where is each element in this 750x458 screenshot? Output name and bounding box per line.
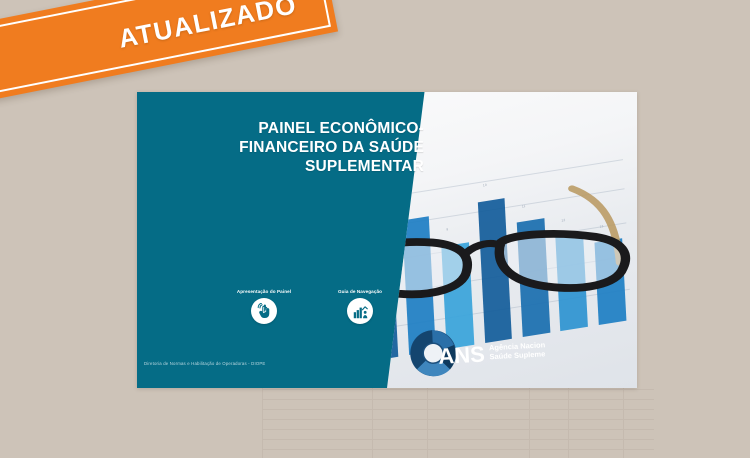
hand-tap-icon <box>256 303 273 320</box>
chart-tick-label: 13 <box>599 224 603 229</box>
ans-acronym: ANS <box>438 342 486 369</box>
chart-tick-label: 8 <box>407 202 409 206</box>
presentation-slide-card[interactable]: 12345678910111213 <box>137 92 637 388</box>
chart-tick-label: 5 <box>294 249 296 253</box>
action-icon-circle[interactable] <box>251 298 277 324</box>
screenshot-root: 12345678910111213 <box>0 0 750 458</box>
printed-bar-chart: 12345678910111213 <box>137 143 631 388</box>
background-watermark <box>262 386 654 458</box>
chart-tick-label: 4 <box>258 281 260 285</box>
status-badge: ATUALIZADO <box>0 0 338 103</box>
chart-tick-label: 7 <box>369 219 371 223</box>
action-apresentacao-do-painel[interactable]: Apresentação do Painel <box>227 289 301 324</box>
ans-logo: ANS Agência Nacional de Saúde Suplementa… <box>404 316 547 379</box>
chart-tick-label: 11 <box>522 204 526 209</box>
bar-chart-person-icon <box>352 303 369 320</box>
chart-tick-label: 2 <box>181 288 183 292</box>
chart-bar <box>176 302 208 388</box>
chart-tick-label: 12 <box>561 218 565 223</box>
chart-tick-label: 3 <box>219 270 221 274</box>
chart-tick-label: 1 <box>145 317 147 321</box>
slide-footer-credit: Diretoria de Normas e Habilitação de Ope… <box>144 361 265 366</box>
chart-bar <box>556 233 588 331</box>
action-icon-circle[interactable] <box>347 298 373 324</box>
chart-bar <box>594 239 626 325</box>
page-title: PAINEL ECONÔMICO-FINANCEIRO DA SAÚDE SUP… <box>179 120 424 177</box>
chart-tick-label: 9 <box>446 228 448 232</box>
chart-tick-label: 10 <box>482 183 486 188</box>
chart-bar <box>140 331 171 388</box>
action-guia-de-navegacao[interactable]: Guia de Navegação <box>323 289 397 324</box>
slide-action-group: Apresentação do Painel <box>227 289 397 351</box>
action-label: Apresentação do Painel <box>227 289 301 295</box>
action-label: Guia de Navegação <box>323 289 397 295</box>
chart-tick-label: 6 <box>333 258 335 262</box>
status-badge-label: ATUALIZADO <box>116 0 300 54</box>
